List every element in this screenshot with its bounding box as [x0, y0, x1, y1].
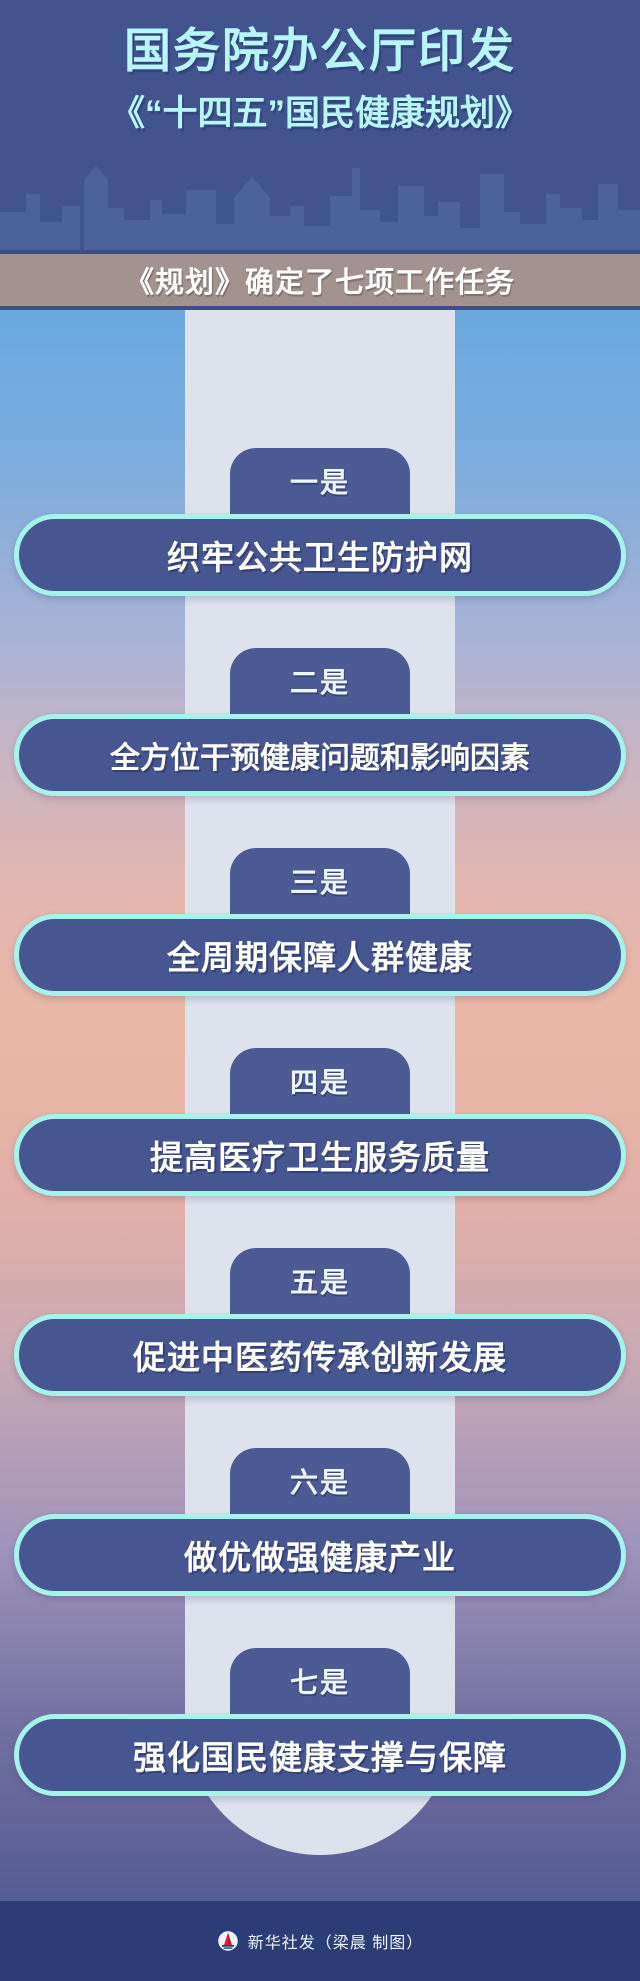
task-text-label: 促进中医药传承创新发展: [133, 1331, 507, 1379]
task-pill[interactable]: 全方位干预健康问题和影响因素: [14, 714, 626, 796]
infographic-page: 国务院办公厅印发 《“十四五”国民健康规划》 《规划》确定了七项工作任务 一是 …: [0, 0, 640, 1981]
xinhua-logo-icon: [217, 1930, 239, 1952]
task-group: 一是 织牢公共卫生防护网: [0, 448, 640, 596]
header-text-block: 国务院办公厅印发 《“十四五”国民健康规划》: [0, 0, 640, 137]
task-pill[interactable]: 提高医疗卫生服务质量: [14, 1114, 626, 1196]
task-number-tab: 三是: [230, 848, 410, 914]
task-number-tab: 一是: [230, 448, 410, 514]
task-pill[interactable]: 强化国民健康支撑与保障: [14, 1714, 626, 1796]
task-text-label: 提高医疗卫生服务质量: [150, 1131, 490, 1179]
task-number-label: 七是: [290, 1661, 350, 1701]
task-pill[interactable]: 做优做强健康产业: [14, 1514, 626, 1596]
task-number-tab: 二是: [230, 648, 410, 714]
task-number-tab: 七是: [230, 1648, 410, 1714]
task-pill[interactable]: 全周期保障人群健康: [14, 914, 626, 996]
task-text-label: 全方位干预健康问题和影响因素: [110, 733, 530, 777]
task-number-label: 二是: [290, 661, 350, 701]
task-text-label: 做优做强健康产业: [184, 1531, 456, 1579]
task-text-label: 织牢公共卫生防护网: [167, 531, 473, 579]
tasks-section: 一是 织牢公共卫生防护网 二是 全方位干预健康问题和影响因素 三是: [0, 310, 640, 1901]
task-number-tab: 四是: [230, 1048, 410, 1114]
task-list: 一是 织牢公共卫生防护网 二是 全方位干预健康问题和影响因素 三是: [0, 310, 640, 1901]
task-group: 二是 全方位干预健康问题和影响因素: [0, 648, 640, 796]
task-number-label: 一是: [290, 461, 350, 501]
task-pill[interactable]: 织牢公共卫生防护网: [14, 514, 626, 596]
task-number-label: 六是: [290, 1461, 350, 1501]
task-group: 七是 强化国民健康支撑与保障: [0, 1648, 640, 1796]
page-title: 国务院办公厅印发: [0, 22, 640, 79]
task-text-label: 强化国民健康支撑与保障: [133, 1731, 507, 1779]
task-number-tab: 五是: [230, 1248, 410, 1314]
header-banner: 国务院办公厅印发 《“十四五”国民健康规划》: [0, 0, 640, 250]
section-header-label: 《规划》确定了七项工作任务: [125, 259, 515, 301]
city-skyline-icon: [0, 150, 640, 250]
task-number-label: 三是: [290, 861, 350, 901]
task-text-label: 全周期保障人群健康: [167, 931, 473, 979]
task-group: 五是 促进中医药传承创新发展: [0, 1248, 640, 1396]
section-header-band: 《规划》确定了七项工作任务: [0, 250, 640, 310]
task-number-label: 四是: [290, 1061, 350, 1101]
task-number-tab: 六是: [230, 1448, 410, 1514]
task-group: 六是 做优做强健康产业: [0, 1448, 640, 1596]
task-number-label: 五是: [290, 1261, 350, 1301]
task-group: 三是 全周期保障人群健康: [0, 848, 640, 996]
footer-credit-label: 新华社发（梁晨 制图）: [248, 1929, 423, 1953]
page-subtitle: 《“十四五”国民健康规划》: [0, 91, 640, 137]
footer-bar: 新华社发（梁晨 制图）: [0, 1901, 640, 1981]
task-group: 四是 提高医疗卫生服务质量: [0, 1048, 640, 1196]
task-pill[interactable]: 促进中医药传承创新发展: [14, 1314, 626, 1396]
